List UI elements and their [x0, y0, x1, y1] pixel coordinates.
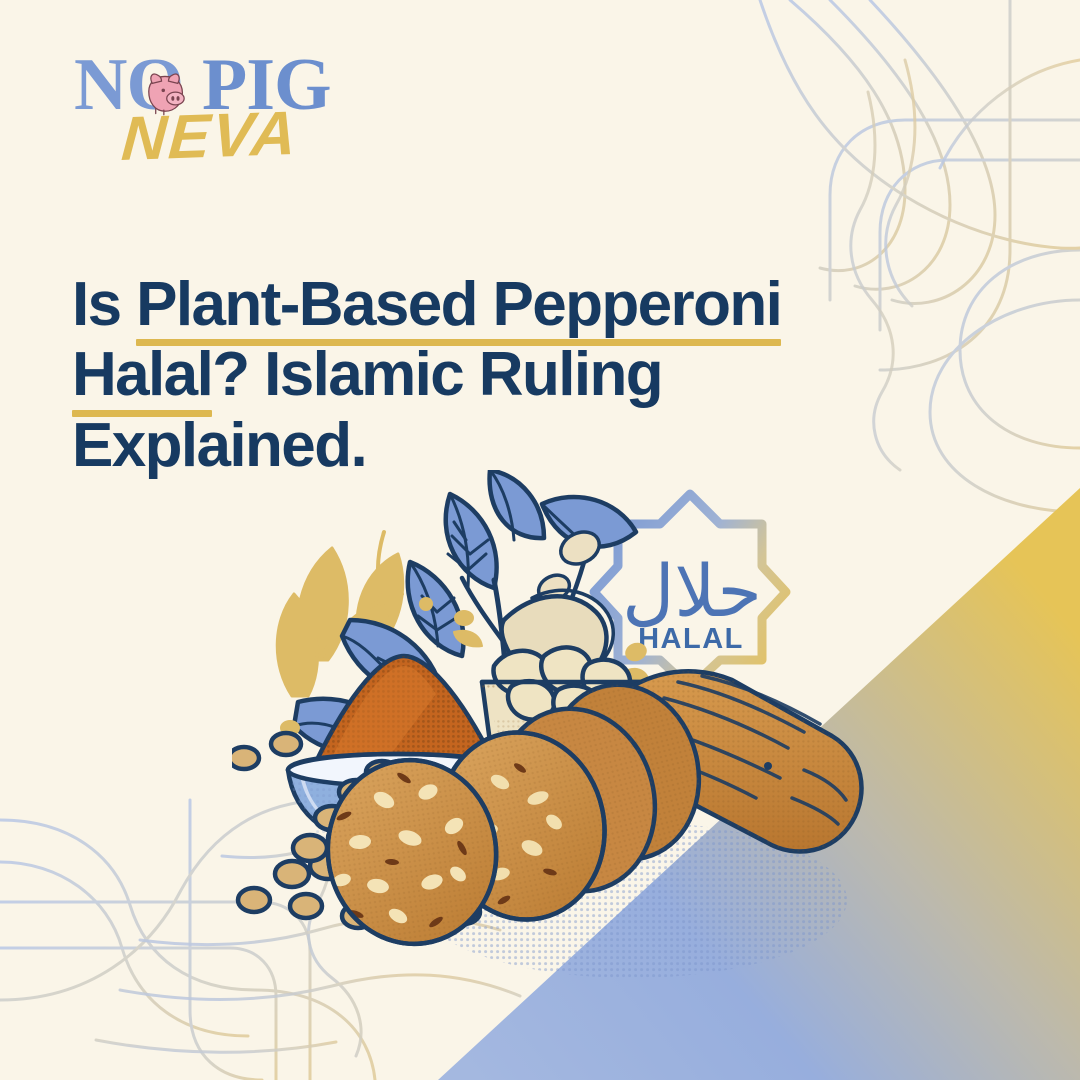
headline-line-2: Halal? Islamic Ruling	[72, 340, 972, 411]
page-title: Is Plant-Based Pepperoni Halal? Islamic …	[72, 270, 972, 482]
headline-highlight-1: Plant-Based Pepperoni	[136, 270, 781, 341]
headline-prefix: Is	[72, 270, 136, 339]
headline-highlight-2: Halal	[72, 340, 212, 411]
headline-suffix: ? Islamic Ruling	[212, 340, 662, 409]
social-post-canvas: NO PIG NEVA Is Plant-Based Pepperoni	[0, 0, 1080, 1080]
brand-logo[interactable]: NO PIG NEVA	[74, 52, 374, 192]
plant-based-pepperoni-illustration	[232, 470, 872, 980]
headline-line-1: Is Plant-Based Pepperoni	[72, 270, 972, 341]
logo-word-neva: NEVA	[120, 103, 301, 171]
